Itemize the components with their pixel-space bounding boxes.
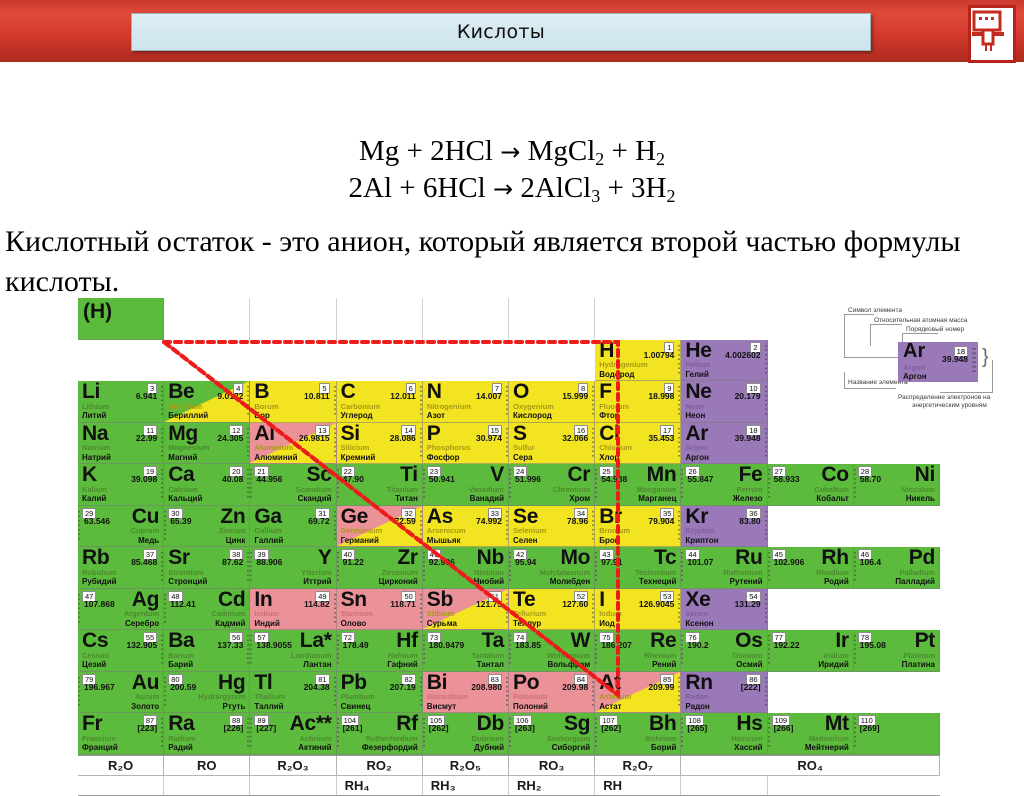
element-cell-La*[interactable]: La*57138.9055LanthanumЛантан <box>250 630 336 672</box>
element-cell-Hs[interactable]: Hs108[265]HassiumХассий <box>681 713 767 755</box>
element-cell-Se[interactable]: Se3478.96SeleniumСелен <box>509 506 595 548</box>
element-russian-name: Радий <box>168 743 193 752</box>
element-latin-name: Fluorum <box>599 402 629 411</box>
element-latin-name: Radon <box>685 692 708 701</box>
element-cell-Ba[interactable]: Ba56137.33BariumБарий <box>164 630 250 672</box>
element-russian-name: Аргон <box>685 453 709 462</box>
element-atomic-mass: 39.948 <box>735 433 761 443</box>
element-atomic-mass: 6.941 <box>136 391 157 401</box>
element-russian-name: Фезерфордий <box>362 743 418 752</box>
element-russian-name: Вольфрам <box>547 660 590 669</box>
periodic-row-2: Li36.941LithiumЛитийBe49.0122BerylliumБе… <box>78 381 940 423</box>
element-cell-Sr[interactable]: Sr3887.62StrontiumСтронций <box>164 547 250 589</box>
legend-mass-label: Относительная атомная масса <box>874 317 967 324</box>
element-russian-name: Стронций <box>168 577 207 586</box>
periodic-row-7: Ag47107.868ArgentumСереброCd48112.41Cadm… <box>78 589 940 631</box>
element-latin-name: Chromium <box>553 485 591 494</box>
electron-shell-marks-icon <box>854 718 856 748</box>
element-latin-name: Oxygenium <box>513 402 554 411</box>
element-latin-name: Astatium <box>599 692 631 701</box>
element-cell-Cu[interactable]: Cu2963.546CuprumМедь <box>78 506 164 548</box>
element-latin-name: Bromum <box>599 526 630 535</box>
element-atomic-mass: [222] <box>741 682 761 692</box>
element-cell-Sc[interactable]: Sc2144.956ScandiumСкандий <box>250 464 336 506</box>
electron-shell-marks-icon <box>164 594 166 624</box>
element-russian-name: Кальций <box>168 494 202 503</box>
element-atomic-mass: 51.996 <box>515 474 541 484</box>
element-cell-Co[interactable]: Co2758.933CobaltumКобальт <box>768 464 854 506</box>
element-atomic-mass: 58.933 <box>774 474 800 484</box>
element-cell-Na[interactable]: Na1122.99NatriumНатрий <box>78 423 164 465</box>
oxide-formula-cell: RO₃ <box>509 756 595 775</box>
element-atomic-mass: 126.9045 <box>639 599 674 609</box>
electron-shell-marks-icon <box>509 718 511 748</box>
electron-shell-marks-icon <box>423 718 425 748</box>
element-cell-Rh[interactable]: Rh45102.906RhodiumРодий <box>768 547 854 589</box>
element-latin-name: Lithium <box>82 402 109 411</box>
element-atomic-mass: 112.41 <box>170 599 196 609</box>
oxide-formula-cell: R₂O₃ <box>250 756 336 775</box>
element-atomic-mass: 28.086 <box>390 433 416 443</box>
electron-shell-marks-icon <box>768 552 770 582</box>
element-latin-name: Arsenicum <box>427 526 466 535</box>
element-latin-name: Kalium <box>82 485 107 494</box>
element-latin-name: Borum <box>254 402 278 411</box>
electron-shell-marks-icon <box>768 635 770 665</box>
element-latin-name: Strontium <box>168 568 203 577</box>
element-cell-Tl[interactable]: Tl81204.38ThalliumТаллий <box>250 672 336 714</box>
electron-shell-marks-icon <box>854 635 856 665</box>
element-russian-name: Астат <box>599 702 621 711</box>
legend-example-cell: Ar 18 39.948 Argon Аргон <box>898 342 978 382</box>
element-atomic-mass: 55.847 <box>687 474 713 484</box>
element-latin-name: Iodum <box>599 609 622 618</box>
element-cell-Po[interactable]: Po84209.98PoloniumПолоний <box>509 672 595 714</box>
element-atomic-mass: 200.59 <box>170 682 196 692</box>
element-russian-name: Мышьяк <box>427 536 461 545</box>
element-russian-name: Дубний <box>474 743 504 752</box>
element-cell-Pb[interactable]: Pb82207.19PlumbumСвинец <box>337 672 423 714</box>
electron-shell-marks-icon <box>337 469 339 499</box>
legend-shell-label-2: энергетическим уровням <box>912 402 987 409</box>
element-atomic-mass: 114.82 <box>304 599 330 609</box>
element-russian-name: Актиний <box>298 743 331 752</box>
element-russian-name: Осмий <box>736 660 762 669</box>
element-cell-Si[interactable]: Si1428.086SiliciumКремний <box>337 423 423 465</box>
element-russian-name: Гафний <box>387 660 418 669</box>
element-latin-name: Xenon <box>685 609 708 618</box>
element-russian-name: Сиборгий <box>552 743 591 752</box>
element-latin-name: Barium <box>168 651 194 660</box>
element-cell-Y[interactable]: Y3988.906YtteriumИттрий <box>250 547 336 589</box>
element-cell-Rf[interactable]: Rf104[261]RutherfordiumФезерфордий <box>337 713 423 755</box>
element-russian-name: Золото <box>131 702 159 711</box>
element-atomic-mass: 195.08 <box>860 640 886 650</box>
element-cell-Ag[interactable]: Ag47107.868ArgentumСеребро <box>78 589 164 631</box>
element-latin-name: Aurum <box>135 692 159 701</box>
element-cell-I[interactable]: I53126.9045IodumИод <box>595 589 681 631</box>
element-cell-O[interactable]: O815.999OxygeniumКислород <box>509 381 595 423</box>
element-cell-Nb[interactable]: Nb4192.906NiobiumНиобий <box>423 547 509 589</box>
element-russian-name: Кобальт <box>816 494 848 503</box>
electron-shell-marks-icon <box>765 594 768 624</box>
element-cell-Be[interactable]: Be49.0122BerylliumБериллий <box>164 381 250 423</box>
eq2-plus: + 3H <box>600 172 666 204</box>
element-atomic-mass: [263] <box>515 723 535 733</box>
element-cell-Au[interactable]: Au79196.967AurumЗолото <box>78 672 164 714</box>
equation-line-1: Mg + 2HCl → MgCl2 + H2 <box>0 134 1024 171</box>
element-atomic-mass: 102.906 <box>774 557 805 567</box>
element-latin-name: Carbonium <box>341 402 381 411</box>
element-latin-name: Nitrogenium <box>427 402 471 411</box>
element-atomic-mass: 32.066 <box>562 433 588 443</box>
element-cell-Os[interactable]: Os76190.2OsmiumОсмий <box>681 630 767 672</box>
electron-shell-marks-icon <box>78 594 80 624</box>
eq2-sub-b: 2 <box>667 186 676 206</box>
electron-shell-marks-icon <box>423 469 425 499</box>
electron-shell-marks-icon <box>768 718 770 748</box>
element-atomic-mass: 1.00794 <box>644 350 675 360</box>
legend-symbol-label: Символ элемента <box>848 307 902 314</box>
element-russian-name: Кислород <box>513 411 552 420</box>
element-russian-name: Цирконий <box>379 577 418 586</box>
element-cell-P[interactable]: P1530.974PhosphorusФосфор <box>423 423 509 465</box>
element-cell-Rn[interactable]: Rn86[222]RadonРадон <box>681 672 767 714</box>
element-atomic-mass: 190.2 <box>687 640 708 650</box>
element-atomic-mass: 14.007 <box>476 391 502 401</box>
element-cell-Te[interactable]: Te52127.60TelluriumТеллур <box>509 589 595 631</box>
element-latin-name: Ytterium <box>301 568 331 577</box>
element-cell-Ge[interactable]: Ge3272.59GermaniumГерманий <box>337 506 423 548</box>
element-atomic-mass: 47.90 <box>343 474 364 484</box>
element-latin-name: Scandium <box>296 485 332 494</box>
element-russian-name: Сера <box>513 453 533 462</box>
element-atomic-mass: 65.39 <box>170 516 191 526</box>
element-cell-Sg[interactable]: Sg106[263]SeaborgiumСиборгий <box>509 713 595 755</box>
element-cell-Ga[interactable]: Ga3169.72GalliumГаллий <box>250 506 336 548</box>
element-cell-H-placeholder[interactable]: (H) <box>78 298 164 340</box>
element-latin-name: Rhodium <box>816 568 849 577</box>
element-atomic-mass: 20.179 <box>735 391 761 401</box>
hydride-formula-cell <box>681 776 767 795</box>
element-atomic-mass: [265] <box>687 723 707 733</box>
element-cell-110[interactable]: 110[269] <box>854 713 940 755</box>
periodic-row-4: K1939.098KaliumКалийCa2040.08CalciumКаль… <box>78 464 940 506</box>
element-russian-name: Барий <box>168 660 193 669</box>
electron-shell-marks-icon <box>681 552 683 582</box>
element-cell-S[interactable]: S1632.066SulfurСера <box>509 423 595 465</box>
element-cell-Ac**[interactable]: Ac**89[227]ActiniumАктиний <box>250 713 336 755</box>
element-russian-name: Борий <box>651 743 676 752</box>
hydride-formula-cell: RH₂ <box>509 776 595 795</box>
element-atomic-mass: 208.980 <box>471 682 502 692</box>
element-latin-name: Indium <box>254 609 279 618</box>
element-russian-name: Водород <box>599 370 634 379</box>
element-atomic-mass: 106.4 <box>860 557 881 567</box>
element-cell-Mo[interactable]: Mo4295.94MolybdaenumМолибден <box>509 547 595 589</box>
electron-shell-marks-icon <box>765 386 768 416</box>
eq1-product-a: MgCl <box>528 135 596 167</box>
element-cell-Li[interactable]: Li36.941LithiumЛитий <box>78 381 164 423</box>
grid-column-divider <box>337 298 423 340</box>
element-russian-name: Лантан <box>303 660 331 669</box>
hydride-formula-cell: RH₄ <box>337 776 423 795</box>
element-cell-Ca[interactable]: Ca2040.08CalciumКальций <box>164 464 250 506</box>
element-latin-name: Niccolum <box>901 485 935 494</box>
element-latin-name: Polonium <box>513 692 547 701</box>
element-cell-Fe[interactable]: Fe2655.847FerrumЖелезо <box>681 464 767 506</box>
element-cell-Ar[interactable]: Ar1839.948ArgonАргон <box>681 423 767 465</box>
element-russian-name: Рутений <box>730 577 763 586</box>
element-russian-name: Натрий <box>82 453 111 462</box>
oxide-formula-cell: R₂O₅ <box>423 756 509 775</box>
element-atomic-mass: 95.94 <box>515 557 536 567</box>
element-latin-name: Tellurium <box>513 609 546 618</box>
element-cell-Cr[interactable]: Cr2451.996ChromiumХром <box>509 464 595 506</box>
element-cell-Mt[interactable]: Mt109[266]MeitneriumМейтнерий <box>768 713 854 755</box>
periodic-row-1: H11.00794HydrogeniumВодородHe24.002602He… <box>78 340 940 382</box>
element-russian-name: Иттрий <box>303 577 331 586</box>
electron-shell-marks-icon <box>250 552 252 582</box>
element-atomic-mass: 4.002602 <box>725 350 760 360</box>
element-atomic-mass: [227] <box>256 723 276 733</box>
element-cell-Pd[interactable]: Pd46106.4PalladiumПалладий <box>854 547 940 589</box>
legend-number-label: Порядковый номер <box>906 326 964 333</box>
element-cell-Zr[interactable]: Zr4091.22ZirconiumЦирконий <box>337 547 423 589</box>
element-atomic-mass: 39.098 <box>131 474 157 484</box>
element-cell-Bh[interactable]: Bh107[262]BohriumБорий <box>595 713 681 755</box>
grid-column-divider <box>164 298 250 340</box>
element-russian-name: Галлий <box>254 536 283 545</box>
oxide-formula-row: R₂OROR₂O₃RO₂R₂O₅RO₃R₂O₇RO₄ <box>78 755 940 775</box>
electron-shell-marks-icon <box>423 552 425 582</box>
element-atomic-mass: 207.19 <box>390 682 416 692</box>
element-symbol: (H) <box>83 300 112 324</box>
element-cell-Ru[interactable]: Ru44101.07RutheniumРутений <box>681 547 767 589</box>
element-cell-H[interactable]: H11.00794HydrogeniumВодород <box>595 340 681 382</box>
periodic-table: (H)H11.00794HydrogeniumВодородHe24.00260… <box>78 298 940 748</box>
page-title: Кислоты <box>457 21 545 43</box>
element-atomic-mass: 88.906 <box>256 557 282 567</box>
element-cell-Ne[interactable]: Ne1020.179NeonНеон <box>681 381 767 423</box>
element-latin-name: Bismuthum <box>427 692 468 701</box>
element-cell-Bi[interactable]: Bi83208.980BismuthumВисмут <box>423 672 509 714</box>
element-atomic-mass: 180.9479 <box>429 640 464 650</box>
element-russian-name: Серебро <box>125 619 159 628</box>
element-latin-name: Francium <box>82 734 116 743</box>
element-atomic-mass: [261] <box>343 723 363 733</box>
element-cell-Pt[interactable]: Pt78195.08PlatinumПлатина <box>854 630 940 672</box>
element-latin-name: Titanium <box>387 485 418 494</box>
element-atomic-mass: 50.941 <box>429 474 455 484</box>
element-cell-Br[interactable]: Br3579.904BromumБром <box>595 506 681 548</box>
element-russian-name: Железо <box>733 494 763 503</box>
legend-cell-mass: 39.948 <box>942 354 968 364</box>
eq1-arrow-icon: → <box>500 138 520 166</box>
element-cell-Kr[interactable]: Kr3683.80KryptonКриптон <box>681 506 767 548</box>
element-latin-name: Cuprum <box>130 526 159 535</box>
element-cell-N[interactable]: N714.007NitrogeniumАзот <box>423 381 509 423</box>
element-cell-C[interactable]: C612.011CarboniumУглерод <box>337 381 423 423</box>
element-atomic-mass: 204.38 <box>304 682 330 692</box>
element-russian-name: Магний <box>168 453 197 462</box>
element-cell-As[interactable]: As3374.992ArsenicumМышьяк <box>423 506 509 548</box>
element-latin-name: Aluminium <box>254 443 293 452</box>
periodic-row-9: Au79196.967AurumЗолотоHg80200.59Hydrargy… <box>78 672 940 714</box>
element-russian-name: Калий <box>82 494 106 503</box>
element-russian-name: Криптон <box>685 536 718 545</box>
element-cell-Db[interactable]: Db105[262]DubniumДубний <box>423 713 509 755</box>
element-latin-name: Wolframium <box>547 651 590 660</box>
element-russian-name: Мейтнерий <box>805 743 849 752</box>
oxide-formula-cell: RO <box>164 756 250 775</box>
element-latin-name: Lanthanum <box>291 651 331 660</box>
element-cell-Ir[interactable]: Ir77192.22IridiumИридий <box>768 630 854 672</box>
element-latin-name: Cesium <box>82 651 109 660</box>
element-cell-V[interactable]: V2350.941VanadiumВанадий <box>423 464 509 506</box>
element-latin-name: Helium <box>685 360 710 369</box>
element-russian-name: Титан <box>395 494 418 503</box>
hydride-formula-cell <box>164 776 250 795</box>
table-legend: Символ элемента Относительная атомная ма… <box>840 300 1024 416</box>
electron-shell-marks-icon <box>423 635 425 665</box>
element-atomic-mass: 69.72 <box>308 516 329 526</box>
element-atomic-mass: 209.98 <box>562 682 588 692</box>
element-latin-name: Iridium <box>824 651 849 660</box>
element-russian-name: Кадмий <box>215 619 245 628</box>
element-cell-Ta[interactable]: Ta73180.9479TantalumТантал <box>423 630 509 672</box>
element-cell-Zn[interactable]: Zn3065.39ZincumЦинк <box>164 506 250 548</box>
element-cell-Mn[interactable]: Mn2554.938ManganumМарганец <box>595 464 681 506</box>
element-cell-B[interactable]: B510.811BorumБор <box>250 381 336 423</box>
element-russian-name: Рений <box>652 660 676 669</box>
element-cell-Sn[interactable]: Sn50118.71StannumОлово <box>337 589 423 631</box>
element-latin-name: Stannum <box>341 609 373 618</box>
element-cell-Tc[interactable]: Tc4397.91TechnetiumТехнеций <box>595 547 681 589</box>
element-russian-name: Рубидий <box>82 577 117 586</box>
element-russian-name: Хлор <box>599 453 619 462</box>
element-latin-name: Calcium <box>168 485 197 494</box>
element-atomic-mass: 92.906 <box>429 557 455 567</box>
element-cell-Cd[interactable]: Cd48112.41CadmiumКадмий <box>164 589 250 631</box>
periodic-row-6: Rb3785.468RubidiumРубидийSr3887.62Stront… <box>78 547 940 589</box>
element-atomic-mass: [266] <box>774 723 794 733</box>
element-russian-name: Технеций <box>639 577 676 586</box>
element-cell-Ra[interactable]: Ra88[226]RadiumРадий <box>164 713 250 755</box>
element-latin-name: Dubnium <box>471 734 504 743</box>
element-russian-name: Родий <box>824 577 849 586</box>
element-latin-name: Argon <box>685 443 707 452</box>
element-latin-name: Argentum <box>124 609 159 618</box>
element-latin-name: Chlorium <box>599 443 632 452</box>
element-atomic-mass: 30.974 <box>476 433 502 443</box>
element-russian-name: Хассий <box>734 743 763 752</box>
element-russian-name: Литий <box>82 411 106 420</box>
element-latin-name: Neon <box>685 402 704 411</box>
element-cell-K[interactable]: K1939.098KaliumКалий <box>78 464 164 506</box>
element-latin-name: Rubidium <box>82 568 117 577</box>
element-russian-name: Бром <box>599 536 620 545</box>
element-atomic-mass: 137.33 <box>217 640 243 650</box>
element-atomic-mass: 40.08 <box>222 474 243 484</box>
element-cell-He[interactable]: He24.002602HeliumГелий <box>681 340 767 382</box>
element-cell-Sb[interactable]: Sb51121.75StibiumСурьма <box>423 589 509 631</box>
element-russian-name: Фтор <box>599 411 619 420</box>
electron-shell-marks-icon <box>250 635 252 665</box>
element-latin-name: Zirconium <box>382 568 418 577</box>
element-cell-Ni[interactable]: Ni2858.70NiccolumНикель <box>854 464 940 506</box>
element-cell-Hg[interactable]: Hg80200.59HydrargyrumРтуть <box>164 672 250 714</box>
electron-shell-marks-icon <box>509 635 511 665</box>
element-russian-name: Германий <box>341 536 379 545</box>
element-russian-name: Таллий <box>254 702 283 711</box>
element-cell-Al[interactable]: Al1326.9815AluminiumАлюминий <box>250 423 336 465</box>
element-atomic-mass: 58.70 <box>860 474 881 484</box>
element-russian-name: Свинец <box>341 702 371 711</box>
element-russian-name: Радон <box>685 702 709 711</box>
legend-shell-label-1: Распределение электронов на <box>898 394 990 401</box>
element-cell-Xe[interactable]: Xe54131.29XenonКсенон <box>681 589 767 631</box>
eq1-sub-a: 2 <box>595 149 604 169</box>
element-cell-Re[interactable]: Re75186.207RheniumРений <box>595 630 681 672</box>
element-latin-name: Selenium <box>513 526 546 535</box>
electron-shell-marks-icon <box>595 552 597 582</box>
element-atomic-mass: 97.91 <box>601 557 622 567</box>
element-atomic-mass: 83.80 <box>739 516 760 526</box>
slide-title-box: Кислоты <box>131 13 871 51</box>
element-russian-name: Скандий <box>298 494 332 503</box>
element-cell-F[interactable]: F918.998FluorumФтор <box>595 381 681 423</box>
element-atomic-mass: [262] <box>429 723 449 733</box>
element-latin-name: Magnesium <box>168 443 209 452</box>
element-atomic-mass: [269] <box>860 723 880 733</box>
oxide-formula-cell: RO₄ <box>681 756 940 775</box>
element-cell-Fr[interactable]: Fr87[223]FranciumФранций <box>78 713 164 755</box>
electron-shell-marks-icon <box>681 635 683 665</box>
element-cell-Cl[interactable]: Cl1735.453ChloriumХлор <box>595 423 681 465</box>
electron-shell-marks-icon <box>337 718 339 748</box>
element-cell-Rb[interactable]: Rb3785.468RubidiumРубидий <box>78 547 164 589</box>
element-russian-name: Висмут <box>427 702 456 711</box>
element-latin-name: Osmium <box>733 651 763 660</box>
element-atomic-mass: 138.9055 <box>256 640 291 650</box>
chemical-equations: Mg + 2HCl → MgCl2 + H2 2Al + 6HCl → 2AlC… <box>0 134 1024 208</box>
pixel-robot-logo-icon <box>968 5 1016 63</box>
element-atomic-mass: 132.905 <box>126 640 157 650</box>
element-atomic-mass: 72.59 <box>395 516 416 526</box>
element-latin-name: Germanium <box>341 526 383 535</box>
element-cell-In[interactable]: In49114.82IndiumИндий <box>250 589 336 631</box>
element-cell-Hf[interactable]: Hf72178.49HafniumГафний <box>337 630 423 672</box>
legend-cell-russian-name: Аргон <box>903 372 927 381</box>
element-latin-name: Sulfur <box>513 443 535 452</box>
periodic-row-5: Cu2963.546CuprumМедьZn3065.39ZincumЦинкG… <box>78 506 940 548</box>
element-atomic-mass: 22.99 <box>136 433 157 443</box>
hydride-formula-cell: RH₃ <box>423 776 509 795</box>
element-atomic-mass: 35.453 <box>648 433 674 443</box>
element-latin-name: Niobium <box>474 568 504 577</box>
oxide-formula-cell: RO₂ <box>337 756 423 775</box>
periodic-row-8: Cs55132.905CesiumЦезийBa56137.33BariumБа… <box>78 630 940 672</box>
element-cell-Cs[interactable]: Cs55132.905CesiumЦезий <box>78 630 164 672</box>
element-cell-W[interactable]: W74183.85WolframiumВольфрам <box>509 630 595 672</box>
element-atomic-mass: 178.49 <box>343 640 369 650</box>
element-latin-name: Vanadium <box>469 485 504 494</box>
element-cell-Mg[interactable]: Mg1224.305MagnesiumМагний <box>164 423 250 465</box>
element-cell-Ti[interactable]: Ti2247.90TitaniumТитан <box>337 464 423 506</box>
element-atomic-mass: 79.904 <box>648 516 674 526</box>
element-cell-At[interactable]: At85209.99AstatiumАстат <box>595 672 681 714</box>
